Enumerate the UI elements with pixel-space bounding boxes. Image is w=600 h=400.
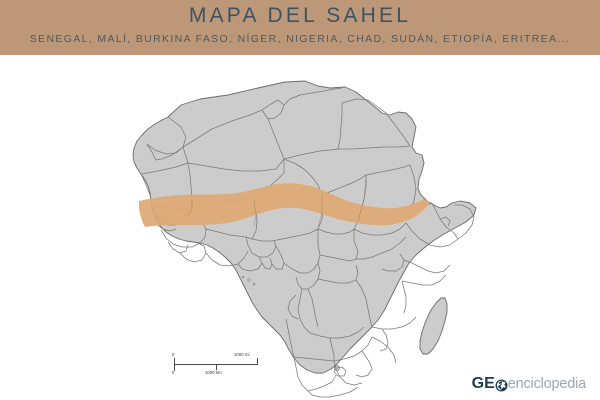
page-title: MAPA DEL SAHEL — [0, 4, 600, 28]
globe-icon — [495, 379, 508, 392]
scale-tick-right — [257, 358, 258, 365]
madagascar — [420, 298, 447, 354]
border-botswana — [334, 361, 362, 385]
border-kenya-south — [402, 275, 446, 285]
border-malawi — [380, 329, 388, 351]
border-tanzania-north — [402, 281, 406, 313]
geoenciclopedia-logo[interactable]: GE enciclopedia — [472, 374, 586, 394]
island-dot-1 — [248, 279, 251, 282]
scale-zero-top: 0 — [172, 352, 174, 357]
scale-km-label: 1000 km — [205, 370, 222, 375]
island-dot-3 — [242, 276, 244, 278]
logo-word-text: enciclopedia — [508, 377, 586, 392]
border-sierraleone — [168, 242, 188, 253]
border-botswana-west — [308, 375, 336, 391]
logo-brand-text: GE — [472, 376, 495, 392]
border-lesotho — [334, 367, 346, 376]
scale-bar: 0 0 1000 mi 1000 km — [172, 350, 282, 382]
scale-miles-label: 1000 mi — [234, 352, 250, 357]
border-zimbabwe — [356, 351, 372, 377]
border-southafrica — [308, 387, 358, 397]
scale-zero-bottom: 0 — [172, 370, 174, 375]
border-kenya — [404, 260, 450, 273]
border-liberia — [180, 243, 206, 262]
header-banner: MAPA DEL SAHEL SENEGAL, MALÍ, BURKINA FA… — [0, 0, 600, 55]
page-subtitle: SENEGAL, MALÍ, BURKINA FASO, NÍGER, NIGE… — [0, 33, 600, 45]
map-canvas[interactable]: 0 0 1000 mi 1000 km GE enciclopedia — [0, 55, 600, 400]
island-dot-2 — [253, 283, 255, 285]
africa-map-svg — [0, 55, 600, 400]
africa-landmass — [133, 81, 476, 373]
